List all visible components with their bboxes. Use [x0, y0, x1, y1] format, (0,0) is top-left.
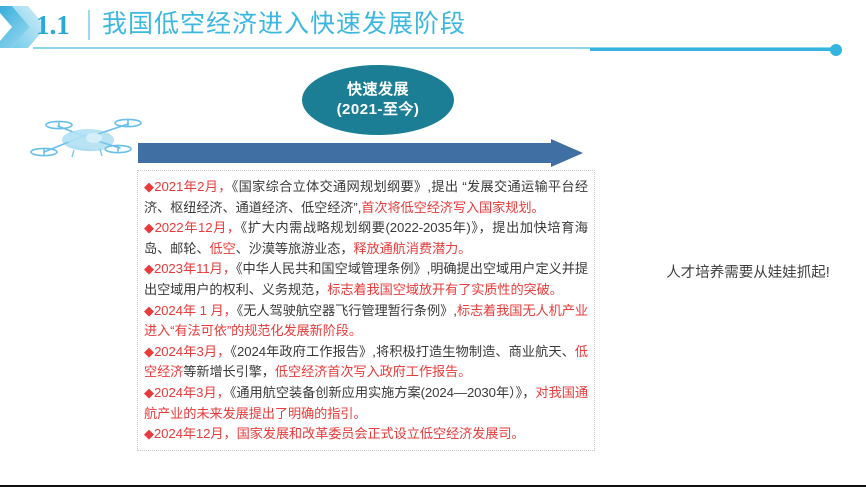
phase-badge-line1: 快速发展 — [347, 80, 409, 100]
bullet-text-segment: 2024年12月， — [154, 426, 237, 441]
timeline-bullet: ◆2023年11月，《中华人民共和国空域管理条例》,明确提出空域用户定义并提出空… — [144, 259, 588, 300]
bullet-text-segment: 《通用航空装备创新应用实施方案(2024—2030年）》， — [230, 385, 536, 400]
header-accent-line — [590, 48, 833, 51]
bullet-text-segment: 2022年12月， — [155, 220, 241, 235]
bullet-marker: ◆ — [144, 220, 155, 235]
bullet-marker: ◆ — [144, 385, 154, 400]
timeline-bullet: ◆2024年12月，国家发展和改革委员会正式设立低空经济发展司。 — [144, 424, 588, 445]
phase-badge: 快速发展 (2021-至今) — [302, 65, 454, 135]
bullet-text-segment: 释放通航消费潜力。 — [353, 241, 471, 256]
timeline-bullet-list: ◆2021年2月，《国家综合立体交通网规划纲要》,提出 “发展交通运输平台经济、… — [144, 177, 588, 445]
bullet-text-segment: 标志着我国空域放开有了实质性的突破。 — [327, 282, 563, 297]
slide-header: 1.1 我国低空经济进入快速发展阶段 — [0, 0, 866, 56]
bullet-text-segment: 首次将低空经济写入国家规划。 — [361, 200, 544, 215]
timeline-content-box: ◆2021年2月，《国家综合立体交通网规划纲要》,提出 “发展交通运输平台经济、… — [137, 170, 595, 451]
bullet-text-segment: 2021年2月， — [154, 179, 231, 194]
right-side-note: 人才培养需要从娃娃抓起! — [648, 262, 848, 284]
bullet-text-segment: 低空经济首次写入政府工作报告。 — [275, 364, 471, 379]
bullet-text-segment: 等新增长引擎， — [183, 364, 275, 379]
title-divider — [88, 10, 90, 40]
slide-canvas: 1.1 我国低空经济进入快速发展阶段 — [0, 0, 866, 487]
bullet-text-segment: 国家发展和改革委员会正式设立低空经济发展司。 — [237, 426, 525, 441]
timeline-arrow — [138, 139, 583, 167]
bullet-marker: ◆ — [144, 303, 154, 318]
bullet-text-segment: 低空 — [209, 241, 235, 256]
timeline-bullet: ◆2024年3月，《通用航空装备创新应用实施方案(2024—2030年）》，对我… — [144, 383, 588, 424]
phase-badge-line2: (2021-至今) — [337, 100, 420, 120]
bullet-marker: ◆ — [144, 344, 154, 359]
page-title: 我国低空经济进入快速发展阶段 — [102, 7, 466, 41]
header-accent-dot — [830, 44, 842, 56]
timeline-bullet: ◆2022年12月，《扩大内需战略规划纲要(2022-2035年)》，提出加快培… — [144, 218, 588, 259]
bullet-text-segment: 2024年 1 月， — [154, 303, 237, 318]
bullet-text-segment: 2023年11月， — [154, 261, 236, 276]
timeline-bullet: ◆2024年3月，《2024年政府工作报告》,将积极打造生物制造、商业航天、低空… — [144, 342, 588, 383]
bullet-marker: ◆ — [144, 179, 154, 194]
timeline-bullet: ◆2021年2月，《国家综合立体交通网规划纲要》,提出 “发展交通运输平台经济、… — [144, 177, 588, 218]
bullet-text-segment: 《2024年政府工作报告》,将积极打造生物制造、商业航天、 — [230, 344, 575, 359]
timeline-bullet: ◆2024年 1 月，《无人驾驶航空器飞行管理暂行条例》,标志着我国无人机产业进… — [144, 301, 588, 342]
bullet-marker: ◆ — [144, 261, 154, 276]
bullet-marker: ◆ — [144, 426, 154, 441]
bullet-text-segment: 《无人驾驶航空器飞行管理暂行条例》, — [237, 303, 457, 318]
section-number: 1.1 — [36, 8, 70, 42]
bullet-text-segment: 2024年3月， — [154, 385, 230, 400]
bullet-text-segment: 、沙漠等旅游业态， — [236, 241, 354, 256]
bullet-text-segment: 2024年3月， — [154, 344, 230, 359]
drone-evtol-icon — [28, 108, 143, 178]
